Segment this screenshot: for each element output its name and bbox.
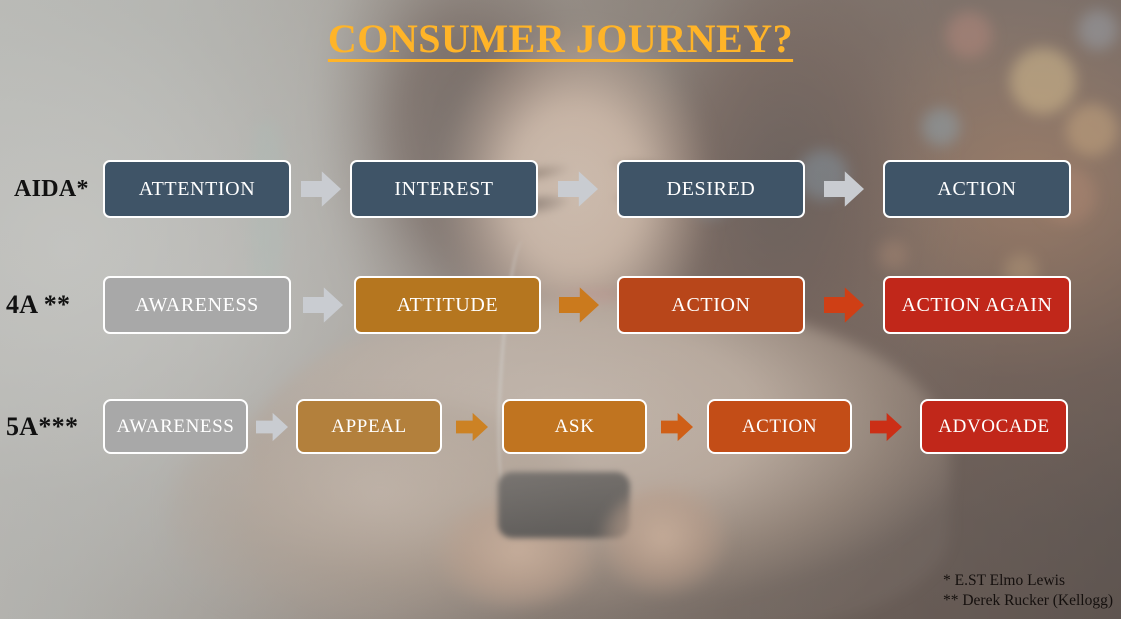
flow-arrow-icon xyxy=(559,285,599,325)
stage-label: AWARENESS xyxy=(135,294,259,317)
row-aida: AIDA* ATTENTIONINTERESTDESIREDACTION xyxy=(0,160,1121,218)
row-label-4a: 4A ** xyxy=(6,276,104,334)
stage-box-5a-4[interactable]: ADVOCADE xyxy=(920,399,1068,454)
flow-arrow-icon xyxy=(256,410,288,444)
flow-arrow-icon xyxy=(824,285,864,325)
flow-arrow-icon xyxy=(303,285,343,325)
stage-box-aida-3[interactable]: ACTION xyxy=(883,160,1071,218)
stage-box-aida-2[interactable]: DESIRED xyxy=(617,160,805,218)
stage-label: AWARENESS xyxy=(117,416,235,438)
stage-label: ACTION xyxy=(671,294,750,317)
row-4a: 4A ** AWARENESSATTITUDEACTIONACTION AGAI… xyxy=(0,276,1121,334)
stage-box-4a-1[interactable]: ATTITUDE xyxy=(354,276,541,334)
flow-arrow-icon xyxy=(870,410,902,444)
stage-box-aida-1[interactable]: INTEREST xyxy=(350,160,538,218)
page-title: CONSUMER JOURNEY? xyxy=(0,15,1121,62)
flow-arrow-icon xyxy=(301,169,341,209)
row-label-aida: AIDA* xyxy=(14,160,112,218)
footnote-item: ** Derek Rucker (Kellogg) xyxy=(943,591,1113,611)
stage-label: ADVOCADE xyxy=(938,416,1049,438)
stage-box-4a-0[interactable]: AWARENESS xyxy=(103,276,291,334)
stage-label: ATTENTION xyxy=(139,178,255,201)
slide-content: CONSUMER JOURNEY? AIDA* ATTENTIONINTERES… xyxy=(0,0,1121,619)
flow-arrow-icon xyxy=(558,169,598,209)
flow-arrow-icon xyxy=(824,169,864,209)
row-label-5a: 5A*** xyxy=(6,399,104,454)
stage-box-4a-2[interactable]: ACTION xyxy=(617,276,805,334)
stage-box-4a-3[interactable]: ACTION AGAIN xyxy=(883,276,1071,334)
slide-canvas: CONSUMER JOURNEY? AIDA* ATTENTIONINTERES… xyxy=(0,0,1121,619)
stage-box-5a-0[interactable]: AWARENESS xyxy=(103,399,248,454)
footnotes: * E.ST Elmo Lewis ** Derek Rucker (Kello… xyxy=(943,571,1113,611)
stage-label: ATTITUDE xyxy=(397,294,498,317)
stage-box-5a-2[interactable]: ASK xyxy=(502,399,647,454)
stage-label: ASK xyxy=(555,416,595,438)
stage-label: ACTION xyxy=(742,416,817,438)
stage-label: ACTION xyxy=(937,178,1016,201)
stage-label: ACTION AGAIN xyxy=(901,294,1052,317)
stage-box-5a-1[interactable]: APPEAL xyxy=(296,399,442,454)
flow-arrow-icon xyxy=(456,410,488,444)
footnote-item: * E.ST Elmo Lewis xyxy=(943,571,1113,591)
row-5a: 5A*** AWARENESSAPPEALASKACTIONADVOCADE xyxy=(0,399,1121,454)
stage-box-aida-0[interactable]: ATTENTION xyxy=(103,160,291,218)
stage-box-5a-3[interactable]: ACTION xyxy=(707,399,852,454)
stage-label: INTEREST xyxy=(394,178,493,201)
stage-label: APPEAL xyxy=(331,416,406,438)
stage-label: DESIRED xyxy=(667,178,756,201)
flow-arrow-icon xyxy=(661,410,693,444)
